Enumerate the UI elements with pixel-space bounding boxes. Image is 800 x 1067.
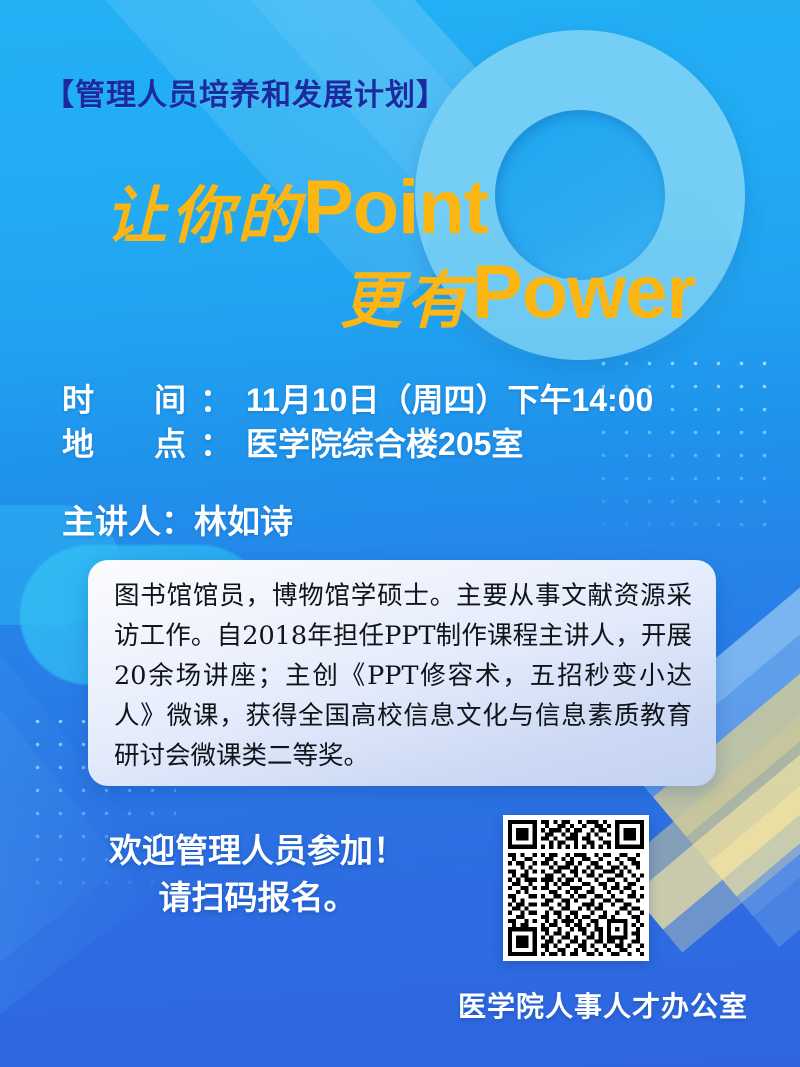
- event-time-label: 时 间：: [62, 382, 246, 418]
- title-line-2: 更有Power: [340, 255, 695, 332]
- qr-code[interactable]: [503, 815, 649, 961]
- event-details: 时 间：11月10日（周四）下午14:00 地 点：医学院综合楼205室: [62, 378, 653, 466]
- speaker-line: 主讲人：林如诗: [62, 495, 293, 543]
- title-line-1-cn: 让你的: [105, 179, 303, 252]
- poster-canvas: 【管理人员培养和发展计划】 让你的Point 更有Power 时 间：11月10…: [0, 0, 800, 1067]
- event-time-row: 时 间：11月10日（周四）下午14:00: [62, 378, 653, 422]
- qr-code-image: [508, 820, 644, 956]
- event-place-row: 地 点：医学院综合楼205室: [62, 422, 653, 466]
- event-place-value: 医学院综合楼205室: [246, 426, 523, 462]
- event-time-value: 11月10日（周四）下午14:00: [246, 382, 653, 418]
- title-line-2-en: Power: [472, 250, 695, 335]
- speaker-bio-box: 图书馆馆员，博物馆学硕士。主要从事文献资源采访工作。自2018年担任PPT制作课…: [88, 560, 716, 786]
- call-to-action: 欢迎管理人员参加！ 请扫码报名。: [60, 828, 455, 922]
- title-line-1: 让你的Point: [105, 170, 488, 247]
- cta-line-2: 请扫码报名。: [60, 875, 455, 922]
- organizer-footer: 医学院人事人才办公室: [458, 985, 748, 1025]
- cta-line-1: 欢迎管理人员参加！: [60, 828, 455, 875]
- title-line-1-en: Point: [303, 165, 488, 250]
- title-line-2-cn: 更有: [340, 264, 472, 337]
- event-place-label: 地 点：: [62, 426, 246, 462]
- program-kicker: 【管理人员培养和发展计划】: [44, 70, 447, 114]
- speaker-bio-text: 图书馆馆员，博物馆学硕士。主要从事文献资源采访工作。自2018年担任PPT制作课…: [114, 576, 692, 776]
